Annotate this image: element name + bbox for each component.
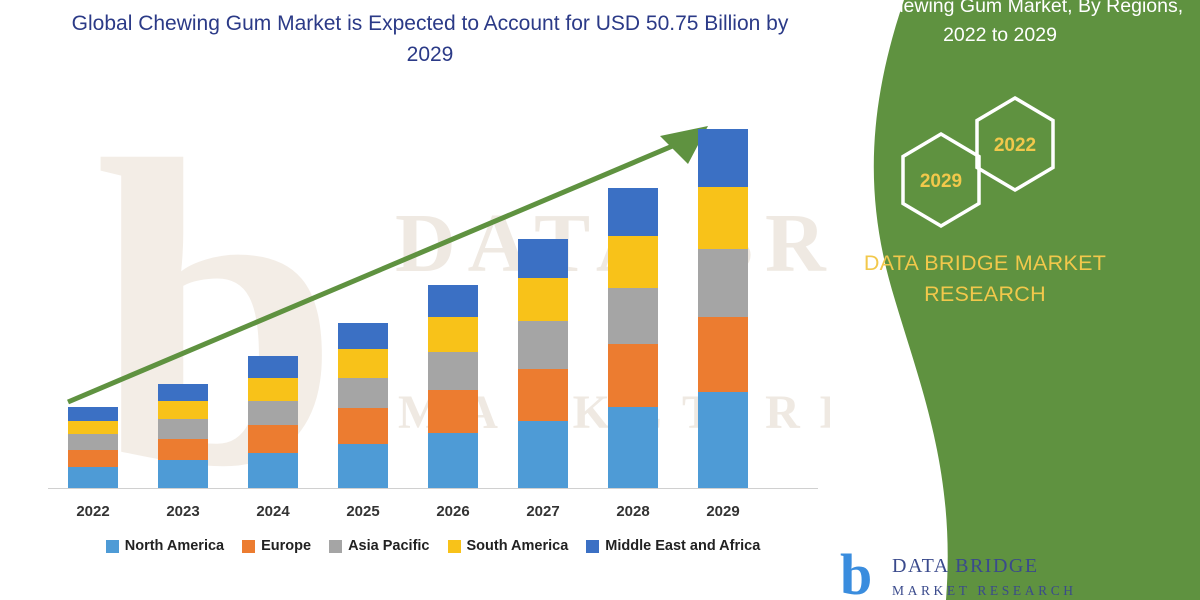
- legend-swatch-icon: [242, 540, 255, 553]
- chart-legend: North AmericaEuropeAsia PacificSouth Ame…: [48, 538, 818, 554]
- bar-segment: [518, 239, 568, 279]
- footer-logo-line-1: DATA BRIDGE: [892, 555, 1039, 578]
- bar-segment: [68, 407, 118, 421]
- legend-label: Middle East and Africa: [605, 538, 760, 554]
- bar-segment: [338, 378, 388, 409]
- bar-group: [518, 239, 568, 488]
- bar-segment: [428, 285, 478, 317]
- bar-segment: [608, 188, 658, 235]
- bar-segment: [608, 344, 658, 407]
- bar-segment: [428, 352, 478, 390]
- legend-item[interactable]: Middle East and Africa: [586, 538, 760, 554]
- x-axis-tick-label: 2028: [588, 503, 678, 520]
- bar-segment: [338, 408, 388, 443]
- x-axis-tick-label: 2025: [318, 503, 408, 520]
- bar-group: [158, 384, 208, 488]
- bar-segment: [68, 467, 118, 488]
- hexagon-group: 2029 2022: [898, 95, 1158, 235]
- stacked-bar-chart: 20222023202420252026202720282029: [0, 0, 830, 600]
- bar-segment: [518, 369, 568, 421]
- legend-label: South America: [467, 538, 569, 554]
- bar-segment: [248, 453, 298, 488]
- bar-group: [608, 188, 658, 488]
- footer-logo-line-2: MARKET RESEARCH: [892, 583, 1077, 599]
- bar-segment: [698, 317, 748, 392]
- x-axis-line: [48, 488, 818, 489]
- chart-page: b DATA BRIDGE MARKET RESEARCH Global Che…: [0, 0, 1200, 600]
- bar-segment: [338, 323, 388, 349]
- bar-segment: [428, 390, 478, 433]
- legend-item[interactable]: South America: [448, 538, 569, 554]
- bar-group: [698, 129, 748, 489]
- bar-segment: [518, 321, 568, 368]
- legend-item[interactable]: North America: [106, 538, 224, 554]
- bar-segment: [158, 439, 208, 460]
- bar-segment: [428, 317, 478, 352]
- bar-segment: [698, 129, 748, 187]
- legend-swatch-icon: [329, 540, 342, 553]
- x-axis-tick-label: 2029: [678, 503, 768, 520]
- legend-item[interactable]: Asia Pacific: [329, 538, 429, 554]
- bar-segment: [338, 444, 388, 488]
- bar-segment: [158, 384, 208, 401]
- bar-segment: [698, 392, 748, 488]
- x-axis-tick-label: 2026: [408, 503, 498, 520]
- bar-group: [338, 323, 388, 488]
- legend-swatch-icon: [106, 540, 119, 553]
- legend-label: Asia Pacific: [348, 538, 429, 554]
- bar-segment: [518, 421, 568, 488]
- bar-segment: [698, 187, 748, 250]
- x-axis-tick-label: 2027: [498, 503, 588, 520]
- panel-title: Global Chewing Gum Market, By Regions, 2…: [800, 0, 1200, 50]
- bar-group: [428, 285, 478, 488]
- x-axis-tick-label: 2023: [138, 503, 228, 520]
- hexagon-2022-label: 2022: [972, 135, 1058, 157]
- bar-segment: [248, 356, 298, 377]
- bar-segment: [68, 421, 118, 435]
- bar-segment: [338, 349, 388, 378]
- bar-segment: [248, 425, 298, 453]
- legend-label: Europe: [261, 538, 311, 554]
- bar-segment: [518, 278, 568, 321]
- bar-segment: [608, 407, 658, 488]
- bar-segment: [68, 434, 118, 449]
- legend-label: North America: [125, 538, 224, 554]
- x-axis-tick-label: 2022: [48, 503, 138, 520]
- bar-segment: [158, 460, 208, 488]
- bar-segment: [68, 450, 118, 467]
- bar-segment: [608, 236, 658, 288]
- bar-group: [248, 356, 298, 488]
- footer-logo-mark: b: [840, 546, 872, 600]
- bar-segment: [248, 401, 298, 425]
- regions-panel: Global Chewing Gum Market, By Regions, 2…: [780, 0, 1200, 600]
- bar-segment: [428, 433, 478, 488]
- legend-item[interactable]: Europe: [242, 538, 311, 554]
- bar-segment: [608, 288, 658, 345]
- x-axis-tick-label: 2024: [228, 503, 318, 520]
- bar-segment: [248, 378, 298, 401]
- bar-segment: [158, 401, 208, 419]
- bar-segment: [158, 419, 208, 439]
- legend-swatch-icon: [448, 540, 461, 553]
- bar-segment: [698, 249, 748, 316]
- legend-swatch-icon: [586, 540, 599, 553]
- footer-logo: b DATA BRIDGE MARKET RESEARCH: [840, 552, 1180, 600]
- panel-brand: DATA BRIDGE MARKET RESEARCH: [835, 248, 1135, 310]
- bar-group: [68, 407, 118, 488]
